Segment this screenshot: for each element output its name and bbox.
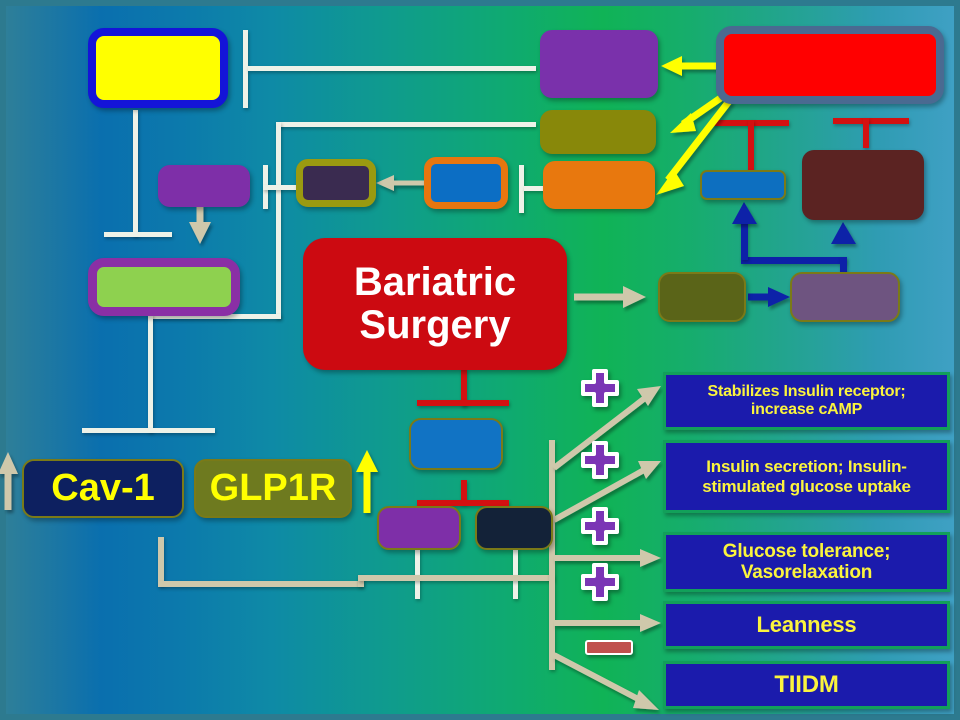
node-purple-small-left[interactable] xyxy=(158,165,250,207)
node-blue-orange-border[interactable] xyxy=(424,157,508,209)
plus-icon-3 xyxy=(580,506,620,546)
cav1-label: Cav-1 xyxy=(24,468,182,509)
node-blue-center[interactable] xyxy=(409,418,503,470)
node-orange[interactable] xyxy=(543,161,655,209)
inhibit-bar-red-brown xyxy=(833,118,909,124)
inhibit-bar-left-lower xyxy=(82,428,215,433)
node-olive-top[interactable] xyxy=(540,110,656,154)
stem-purple-center-down xyxy=(415,549,420,599)
node-navy-center[interactable] xyxy=(475,506,553,550)
inhibit-bar-yellow-to-green xyxy=(104,232,172,237)
outcome-box-1[interactable]: Stabilizes Insulin receptor; increase cA… xyxy=(663,372,950,430)
bus-stem-cav1 xyxy=(158,537,164,585)
bus-riser xyxy=(549,440,555,670)
node-red-slate-border[interactable] xyxy=(716,26,944,104)
outcome-text-2: Insulin secretion; Insulin-stimulated gl… xyxy=(672,457,941,495)
blue-joint-stem-left xyxy=(741,215,748,260)
stem-navy-center-down xyxy=(513,549,518,599)
outcome-text-5: TIIDM xyxy=(666,672,947,699)
node-lightgreen-purple-border[interactable] xyxy=(88,258,240,316)
outcome-box-5[interactable]: TIIDM xyxy=(663,661,950,709)
inhibit-stem-second-row xyxy=(276,122,281,318)
outcome-box-2[interactable]: Insulin secretion; Insulin-stimulated gl… xyxy=(663,440,950,513)
inhibit-stem-yellow-to-green xyxy=(133,110,138,236)
inhibit-stem-red-blue-right xyxy=(748,120,754,170)
inhibit-line-top-left xyxy=(248,66,536,71)
node-cav1[interactable]: Cav-1 xyxy=(22,459,184,518)
inhibit-line-second-row xyxy=(276,122,536,127)
outcome-text-4: Leanness xyxy=(666,613,947,638)
plus-icon-4 xyxy=(580,562,620,602)
node-bariatric-surgery[interactable]: Bariatric Surgery xyxy=(303,238,567,370)
node-blue-small-right[interactable] xyxy=(700,170,786,200)
inhibit-stem-left-lower xyxy=(148,314,153,432)
surgery-line-2: Surgery xyxy=(303,304,567,347)
glp1r-label: GLP1R xyxy=(196,468,350,509)
node-glp1r[interactable]: GLP1R xyxy=(194,459,352,518)
outcome-text-1: Stabilizes Insulin receptor; increase cA… xyxy=(674,383,939,419)
bus-line-upper xyxy=(358,575,554,581)
outcome-box-3[interactable]: Glucose tolerance; Vasorelaxation xyxy=(663,532,950,592)
node-yellow-blue-border[interactable] xyxy=(88,28,228,108)
node-mauve-bottom[interactable] xyxy=(790,272,900,322)
node-brown-right[interactable] xyxy=(802,150,924,220)
node-purple-top[interactable] xyxy=(540,30,658,98)
surgery-line-1: Bariatric xyxy=(303,261,567,304)
inhibit-stem-red-brown xyxy=(863,118,869,148)
node-darkpurple-olive-border[interactable] xyxy=(296,159,376,207)
plus-icon-2 xyxy=(580,440,620,480)
blue-joint-line xyxy=(741,257,846,264)
inhibit-line-purple-small xyxy=(263,185,297,190)
node-olive-dark-bottom[interactable] xyxy=(658,272,746,322)
plus-icon-1 xyxy=(580,368,620,408)
diagram-canvas: Bariatric Surgery Cav-1 GLP1R Stabilizes… xyxy=(0,0,960,720)
inhibit-bar-surgery xyxy=(417,400,509,406)
node-purple-center[interactable] xyxy=(377,506,461,550)
bus-line-lower xyxy=(158,581,363,587)
minus-icon-1 xyxy=(585,640,633,655)
outcome-text-3: Glucose tolerance; Vasorelaxation xyxy=(674,541,939,584)
outcome-box-4[interactable]: Leanness xyxy=(663,601,950,649)
